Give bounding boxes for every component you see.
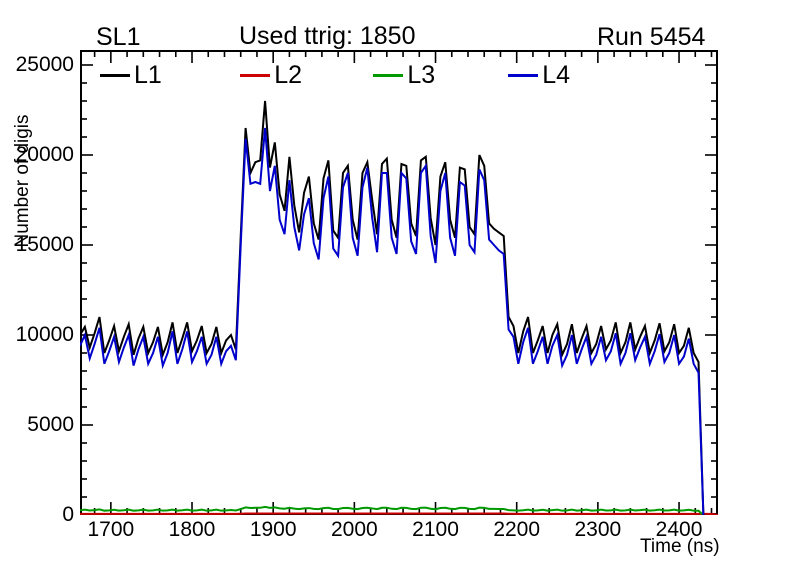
legend-item-l2[interactable]: L2	[240, 63, 302, 88]
series-line-l1	[80, 101, 703, 515]
x-tick-1800: 1800	[169, 518, 216, 542]
legend-label-l2: L2	[274, 63, 302, 88]
legend-label-l3: L3	[407, 63, 435, 88]
legend-item-l4[interactable]: L4	[508, 63, 570, 88]
legend-swatch-l2	[240, 74, 270, 77]
series-line-l2	[80, 514, 718, 515]
series-line-l4	[80, 128, 703, 515]
x-tick-2300: 2300	[575, 518, 622, 542]
legend-swatch-l3	[373, 74, 403, 77]
legend-swatch-l1	[100, 74, 130, 77]
plot-area	[80, 50, 718, 515]
legend-label-l4: L4	[542, 63, 570, 88]
x-tick-2400: 2400	[656, 518, 703, 542]
x-tick-1900: 1900	[250, 518, 297, 542]
legend-item-l3[interactable]: L3	[373, 63, 435, 88]
x-tick-2200: 2200	[493, 518, 540, 542]
legend-label-l1: L1	[134, 63, 162, 88]
legend-swatch-l4	[508, 74, 538, 77]
legend-item-l1[interactable]: L1	[100, 63, 162, 88]
root-canvas: SL1 Used ttrig: 1850 Run 5454 Number of …	[0, 0, 796, 572]
x-tick-2000: 2000	[331, 518, 378, 542]
legend: L1 L2 L3 L4	[100, 62, 570, 88]
x-tick-1700: 1700	[87, 518, 134, 542]
x-tick-2100: 2100	[412, 518, 459, 542]
